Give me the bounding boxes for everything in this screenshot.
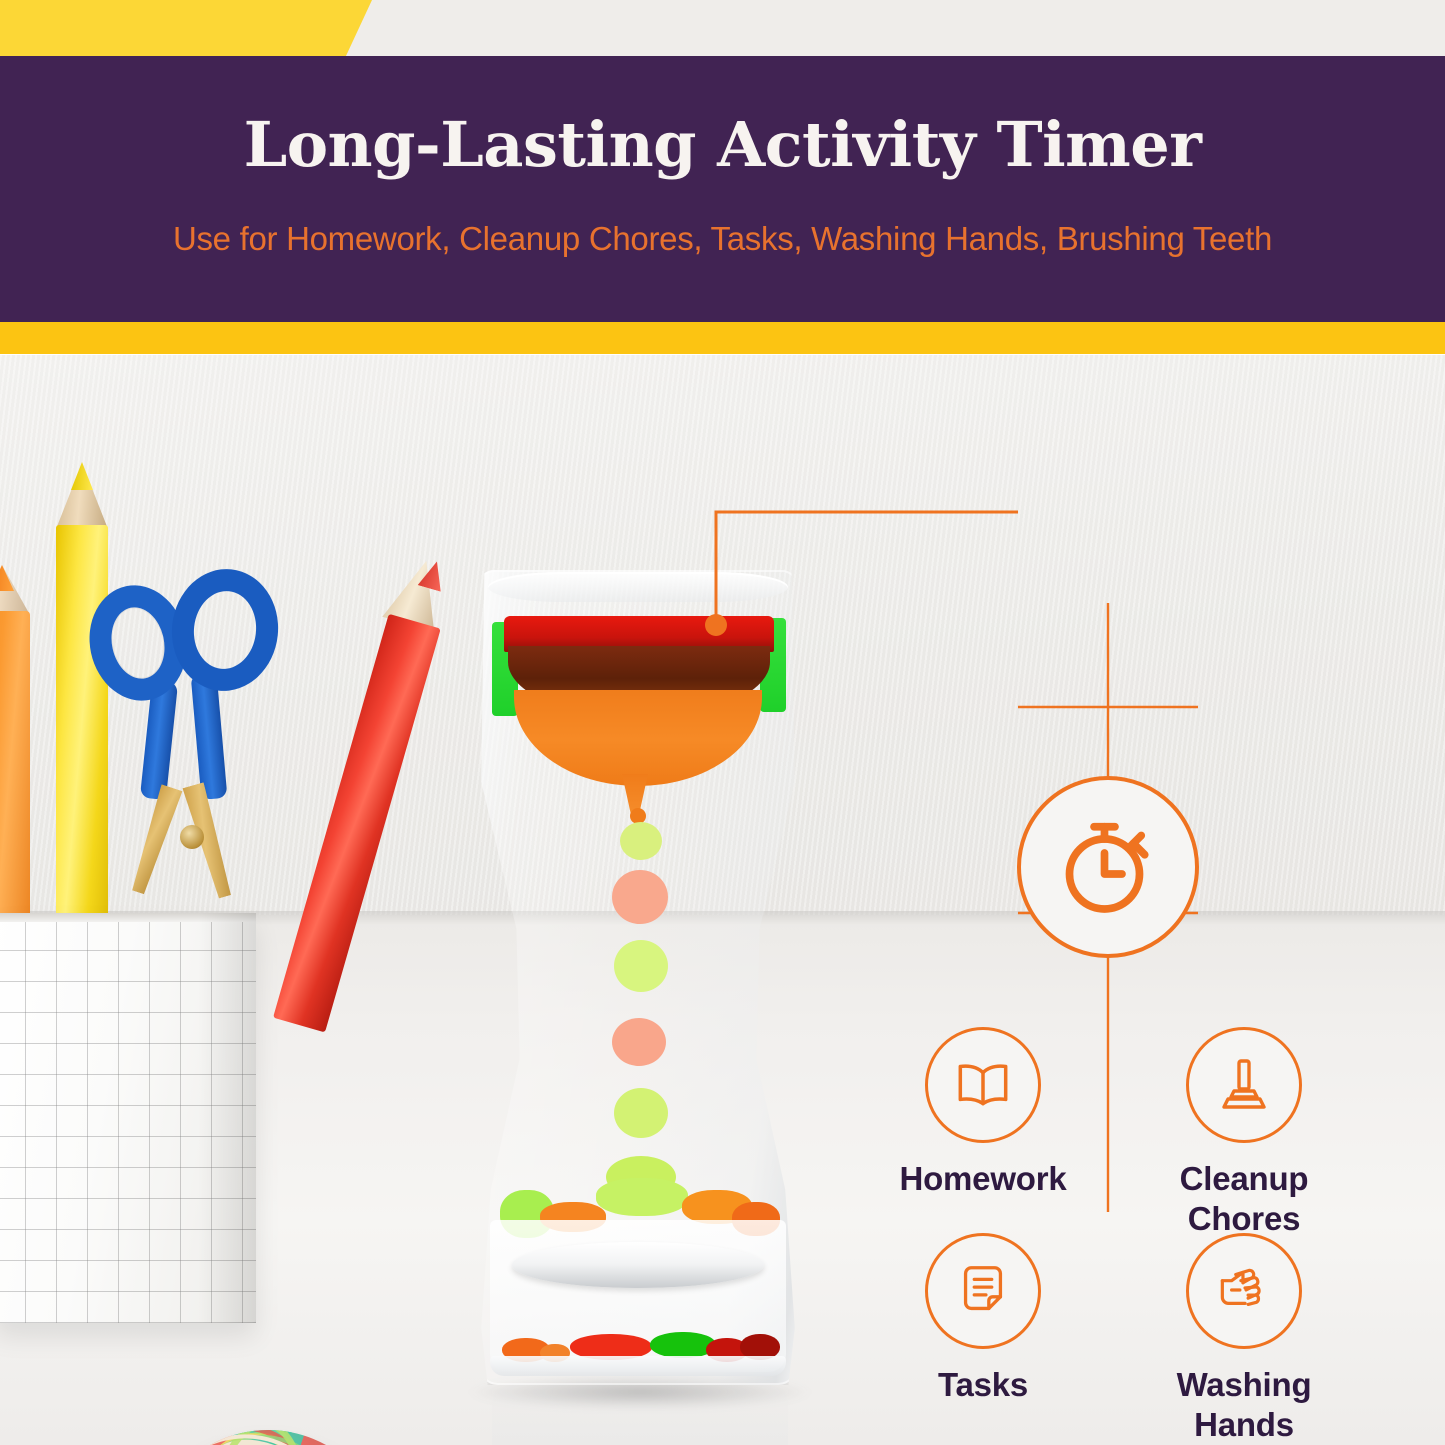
document-icon-circle [925, 1233, 1041, 1349]
feature-callout-map: Homework Cleanup Chores [0, 355, 1445, 1445]
header-yellow-corner-accent [0, 0, 372, 56]
open-book-icon [950, 1052, 1016, 1118]
broom-icon [1212, 1053, 1276, 1117]
washing-hands-icon [1211, 1258, 1277, 1324]
broom-icon-circle [1186, 1027, 1302, 1143]
callout-label-cleanup-line1: Cleanup [1129, 1159, 1359, 1199]
page-subtitle: Use for Homework, Cleanup Chores, Tasks,… [0, 220, 1445, 258]
callout-label-washing: Washing Hands [1129, 1365, 1359, 1445]
callout-label-tasks: Tasks [868, 1365, 1098, 1405]
header-yellow-band [0, 322, 1445, 354]
stopwatch-icon [1052, 811, 1164, 923]
washing-hands-icon-circle [1186, 1233, 1302, 1349]
callout-label-homework: Homework [868, 1159, 1098, 1199]
header-purple-band [0, 56, 1445, 322]
page-title: Long-Lasting Activity Timer [0, 108, 1445, 181]
callout-label-washing-line2: Hands [1129, 1405, 1359, 1445]
timer-hotspot-dot [705, 614, 727, 636]
document-icon [952, 1260, 1014, 1322]
stopwatch-icon-circle [1017, 776, 1199, 958]
callout-label-washing-line1: Washing [1129, 1365, 1359, 1405]
header-banner: Long-Lasting Activity Timer Use for Home… [0, 0, 1445, 355]
callout-label-cleanup: Cleanup Chores [1129, 1159, 1359, 1240]
open-book-icon-circle [925, 1027, 1041, 1143]
product-scene: Homework Cleanup Chores [0, 355, 1445, 1445]
